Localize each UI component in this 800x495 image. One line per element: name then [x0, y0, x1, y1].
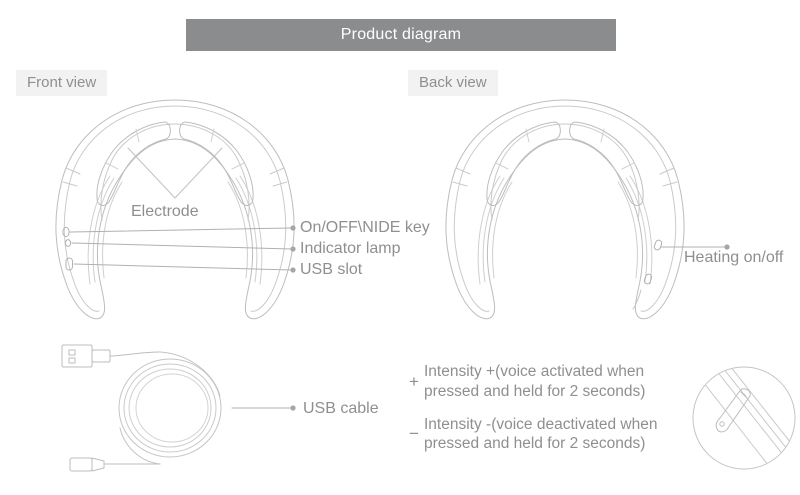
- callout-usb-slot: USB slot: [300, 261, 362, 279]
- intensity-legend: + Intensity +(voice activated when press…: [404, 362, 704, 467]
- usb-cable-illustration: [62, 345, 221, 471]
- callout-electrode: Electrode: [131, 203, 199, 221]
- front-view-label: Front view: [16, 70, 107, 96]
- intensity-minus-text: Intensity -(voice deactivated when press…: [424, 415, 657, 455]
- callout-on-off-key: On/OFF\NIDE key: [300, 219, 430, 237]
- callout-heating-on-off: Heating on/off: [684, 249, 783, 267]
- button-detail-inset: [693, 366, 800, 470]
- intensity-plus-text: Intensity +(voice activated when pressed…: [424, 362, 645, 402]
- back-view-device: [446, 100, 684, 319]
- intensity-plus-row: + Intensity +(voice activated when press…: [404, 362, 704, 402]
- page-title: Product diagram: [341, 26, 461, 44]
- product-diagram-page: Product diagram Front view Back view: [0, 0, 800, 495]
- back-view-label: Back view: [408, 70, 498, 96]
- callout-indicator-lamp: Indicator lamp: [300, 240, 401, 258]
- intensity-minus-row: − Intensity -(voice deactivated when pre…: [404, 415, 704, 455]
- callout-usb-cable: USB cable: [303, 400, 379, 418]
- minus-icon: −: [404, 424, 424, 444]
- plus-icon: +: [404, 372, 424, 392]
- page-title-bar: Product diagram: [186, 19, 616, 51]
